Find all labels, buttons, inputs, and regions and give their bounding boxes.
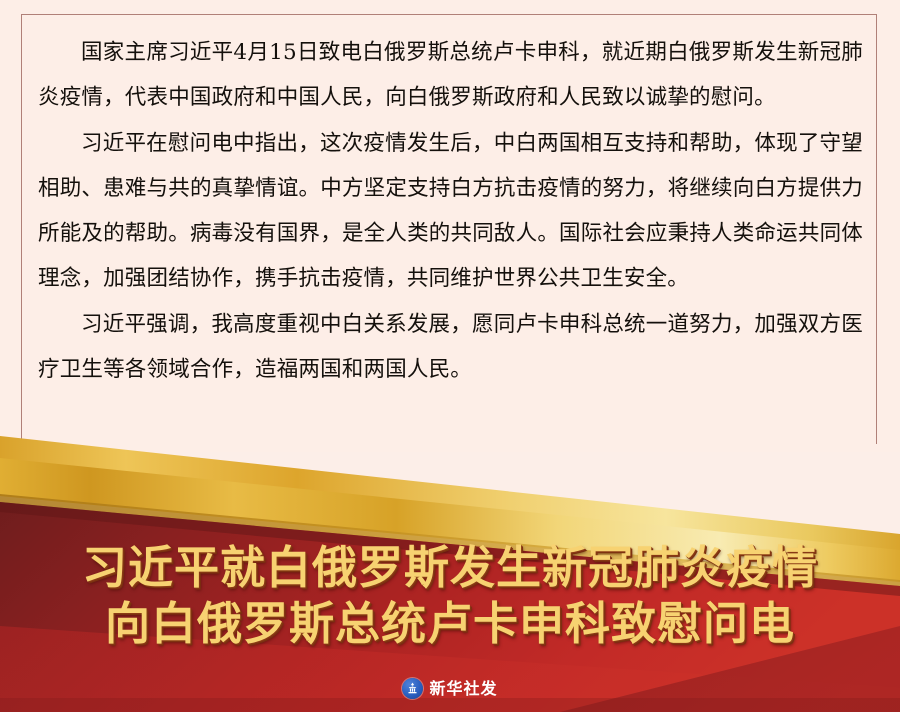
news-poster: 国家主席习近平4月15日致电白俄罗斯总统卢卡申科，就近期白俄罗斯发生新冠肺炎疫情… (0, 0, 900, 712)
source-credit-text: 新华社发 (429, 679, 497, 699)
article-paragraph-2: 习近平在慰问电中指出，这次疫情发生后，中白两国相互支持和帮助，体现了守望相助、患… (38, 121, 863, 301)
banner-graphic (0, 430, 900, 712)
article-body: 国家主席习近平4月15日致电白俄罗斯总统卢卡申科，就近期白俄罗斯发生新冠肺炎疫情… (38, 30, 863, 393)
article-paragraph-1: 国家主席习近平4月15日致电白俄罗斯总统卢卡申科，就近期白俄罗斯发生新冠肺炎疫情… (38, 30, 863, 120)
article-paragraph-3: 习近平强调，我高度重视中白关系发展，愿同卢卡申科总统一道努力，加强双方医疗卫生等… (38, 302, 863, 392)
source-credit: 新华社发 (0, 678, 900, 699)
xinhua-emblem-icon (402, 678, 423, 699)
article-area: 国家主席习近平4月15日致电白俄罗斯总统卢卡申科，就近期白俄罗斯发生新冠肺炎疫情… (0, 0, 900, 452)
